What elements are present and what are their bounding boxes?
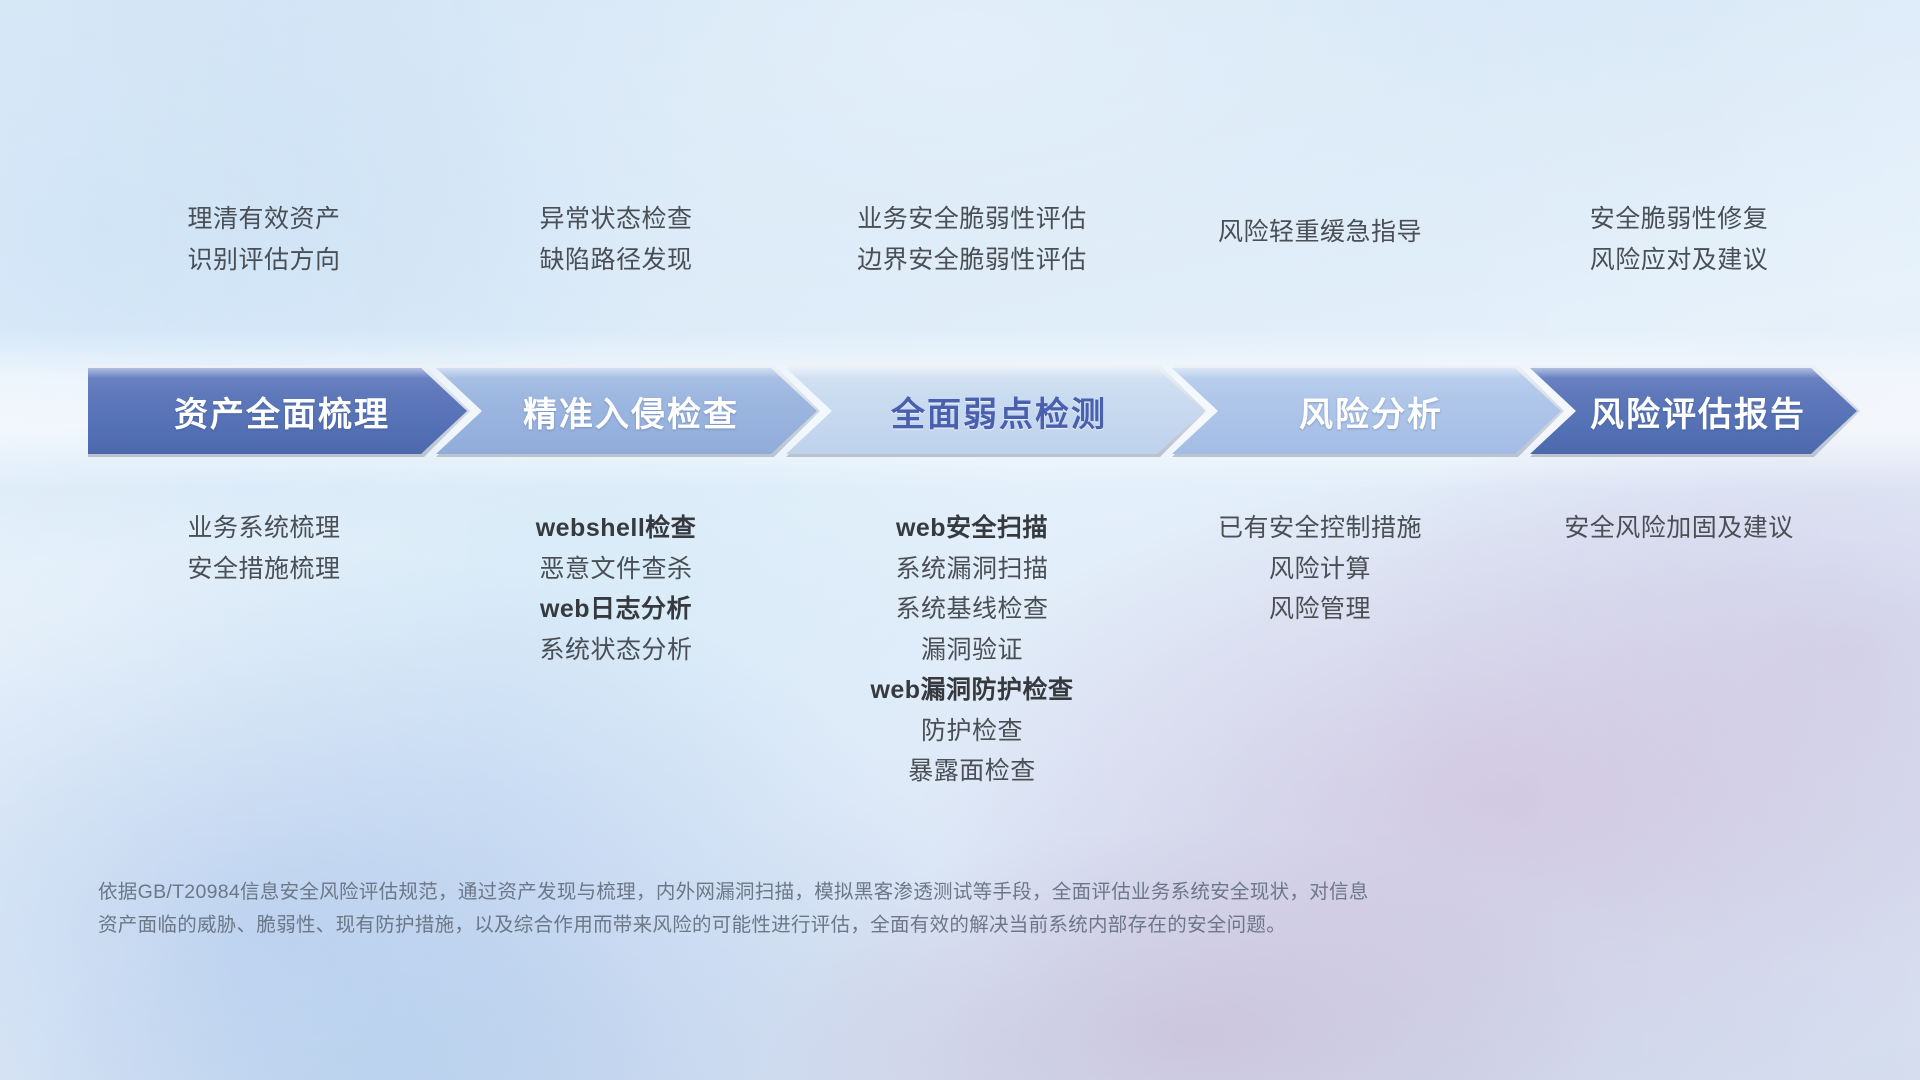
list-item: 防护检查 [762, 711, 1182, 752]
stage-top-captions-assessment-report: 安全脆弱性修复 风险应对及建议 [1494, 199, 1864, 280]
caption-line: 缺陷路径发现 [440, 240, 792, 281]
list-item: web日志分析 [440, 589, 792, 630]
stage-top-captions-risk-analysis: 风险轻重缓急指导 [1110, 212, 1530, 253]
list-item: 系统状态分析 [440, 630, 792, 671]
caption-line: 风险轻重缓急指导 [1110, 212, 1530, 253]
list-item: 风险管理 [1110, 589, 1530, 630]
list-item: webshell检查 [440, 508, 792, 549]
caption-line: 理清有效资产 [88, 199, 440, 240]
footnote-line: 依据GB/T20984信息安全风险评估规范，通过资产发现与梳理，内外网漏洞扫描，… [98, 876, 1738, 909]
stage-chevron-assessment-report[interactable]: 风险评估报告 [1530, 365, 1860, 457]
stage-chevron-intrusion-check[interactable]: 精准入侵检查 [436, 365, 820, 457]
list-item: 风险计算 [1110, 549, 1530, 590]
list-item: 安全风险加固及建议 [1494, 508, 1864, 549]
stage-chevron-risk-analysis[interactable]: 风险分析 [1172, 365, 1564, 457]
stage-top-captions-intrusion-check: 异常状态检查 缺陷路径发现 [440, 199, 792, 280]
stage-bottom-list-intrusion-check: webshell检查 恶意文件查杀 web日志分析 系统状态分析 [440, 508, 792, 670]
stage-bottom-list-assessment-report: 安全风险加固及建议 [1494, 508, 1864, 549]
list-item: 业务系统梳理 [88, 508, 440, 549]
list-item: 暴露面检查 [762, 751, 1182, 792]
stage-chevron-label: 风险评估报告 [1584, 387, 1806, 436]
caption-line: 安全脆弱性修复 [1494, 199, 1864, 240]
list-item: 安全措施梳理 [88, 549, 440, 590]
process-diagram: 理清有效资产 识别评估方向 异常状态检查 缺陷路径发现 业务安全脆弱性评估 边界… [0, 0, 1920, 1080]
stage-bottom-list-risk-analysis: 已有安全控制措施 风险计算 风险管理 [1110, 508, 1530, 630]
list-item: web漏洞防护检查 [762, 670, 1182, 711]
stage-top-captions-asset-inventory: 理清有效资产 识别评估方向 [88, 199, 440, 280]
stage-chevron-label: 全面弱点检测 [885, 387, 1107, 436]
list-item: 恶意文件查杀 [440, 549, 792, 590]
footnote-line: 资产面临的威胁、脆弱性、现有防护措施，以及综合作用而带来风险的可能性进行评估，全… [98, 909, 1738, 942]
stage-chevron-band: 资产全面梳理 精准入侵检查 全面弱点检测 风险分析 风险评估报告 [88, 365, 1860, 457]
stage-bottom-list-asset-inventory: 业务系统梳理 安全措施梳理 [88, 508, 440, 589]
stage-chevron-asset-inventory[interactable]: 资产全面梳理 [88, 365, 470, 457]
caption-line: 风险应对及建议 [1494, 240, 1864, 281]
stage-chevron-label: 资产全面梳理 [168, 387, 390, 436]
stage-chevron-weakness-detection[interactable]: 全面弱点检测 [786, 365, 1206, 457]
stage-chevron-label: 精准入侵检查 [517, 387, 739, 436]
stage-chevron-label: 风险分析 [1293, 387, 1443, 436]
list-item: 已有安全控制措施 [1110, 508, 1530, 549]
caption-line: 异常状态检查 [440, 199, 792, 240]
footnote-paragraph: 依据GB/T20984信息安全风险评估规范，通过资产发现与梳理，内外网漏洞扫描，… [98, 876, 1738, 942]
list-item: 漏洞验证 [762, 630, 1182, 671]
caption-line: 识别评估方向 [88, 240, 440, 281]
